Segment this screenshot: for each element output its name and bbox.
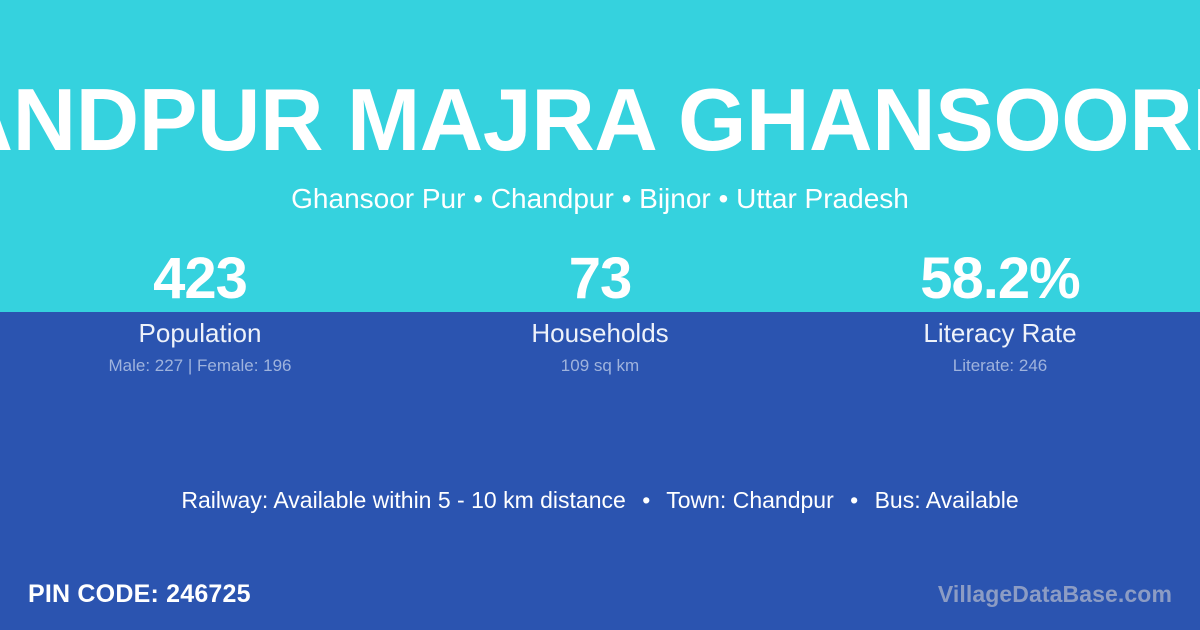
stat-label: Literacy Rate bbox=[800, 318, 1200, 348]
amenity-town: Town: Chandpur bbox=[666, 487, 834, 513]
stat-label: Households bbox=[400, 318, 800, 348]
village-info-card: CHANDPUR MAJRA GHANSOORPUR Ghansoor Pur … bbox=[0, 0, 1200, 630]
stat-sublabel: Literate: 246 bbox=[800, 356, 1200, 376]
amenity-railway: Railway: Available within 5 - 10 km dist… bbox=[181, 487, 625, 513]
stat-sublabel: Male: 227 | Female: 196 bbox=[0, 356, 400, 376]
stat-households: 73 Households 109 sq km bbox=[400, 246, 800, 376]
breadcrumb-location: Ghansoor Pur • Chandpur • Bijnor • Uttar… bbox=[0, 182, 1200, 216]
footer: PIN CODE: 246725 VillageDataBase.com bbox=[0, 558, 1200, 630]
stat-literacy-rate: 58.2% Literacy Rate Literate: 246 bbox=[800, 246, 1200, 376]
stat-population: 423 Population Male: 227 | Female: 196 bbox=[0, 246, 400, 376]
pin-code: PIN CODE: 246725 bbox=[28, 579, 251, 609]
stat-label: Population bbox=[0, 318, 400, 348]
amenity-bus: Bus: Available bbox=[875, 487, 1019, 513]
stat-sublabel: 109 sq km bbox=[400, 356, 800, 376]
stats-row: 423 Population Male: 227 | Female: 196 7… bbox=[0, 246, 1200, 376]
amenity-separator-icon: • bbox=[632, 485, 660, 515]
stat-value: 73 bbox=[400, 246, 800, 312]
stat-value: 58.2% bbox=[800, 246, 1200, 312]
brand-watermark: VillageDataBase.com bbox=[938, 580, 1172, 608]
stat-value: 423 bbox=[0, 246, 400, 312]
amenities-line: Railway: Available within 5 - 10 km dist… bbox=[0, 485, 1200, 515]
amenity-separator-icon: • bbox=[840, 485, 868, 515]
page-title: CHANDPUR MAJRA GHANSOORPUR bbox=[0, 76, 1200, 164]
